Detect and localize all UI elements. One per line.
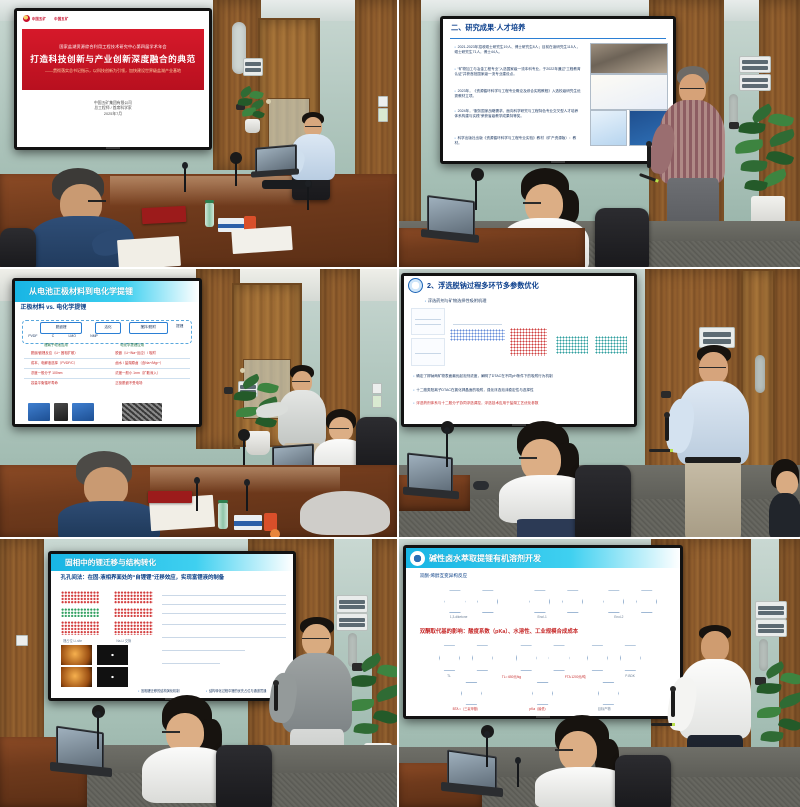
figure-surfactant-layer bbox=[510, 328, 547, 356]
slide-flotation-optimization: 2、浮选脱钠过程多环节多参数优化 浮选药剂与矿物选择性吸附机理 bbox=[404, 276, 634, 424]
slide-eyebrow: 国家盐湖资源综合利用工程技术研究中心第四届学术年会 bbox=[59, 44, 166, 50]
photo-panel-3[interactable]: 从电池正极材料到电化学提锂 正极材料 vs. 电化学提锂 脱嵌锂 活化 搅拌/脱… bbox=[0, 269, 399, 539]
slide-header: 二、研究成果·人才培养 bbox=[443, 19, 673, 37]
battery-cell-image bbox=[72, 403, 94, 422]
bullet-item: 确定了钾钠两矿物表面最优起泡剂浓度，阐明了DTAC在不同pH条件下的吸附行为机制 bbox=[413, 374, 625, 379]
tem-image-1 bbox=[61, 645, 92, 665]
office-chair[interactable] bbox=[615, 755, 671, 807]
head bbox=[776, 471, 798, 495]
wall-mounted-display-4[interactable]: 2、浮选脱钠过程多环节多参数优化 浮选药剂与矿物选择性吸附机理 bbox=[401, 273, 637, 427]
laser-pointer[interactable] bbox=[651, 723, 673, 726]
wall-control-panel[interactable] bbox=[739, 56, 771, 73]
gooseneck-microphone-2[interactable] bbox=[517, 761, 519, 787]
wall-outlet[interactable] bbox=[378, 96, 388, 107]
thumbnail-textbook-blue bbox=[590, 110, 627, 146]
slide-title: 碱性卤水萃取提锂有机溶剂开发 bbox=[429, 553, 541, 564]
glasses bbox=[329, 428, 349, 431]
office-chair[interactable] bbox=[595, 208, 649, 267]
cost-label: P-BDK bbox=[625, 674, 635, 678]
cell-left: 浓度一般分子 100nm bbox=[31, 370, 63, 375]
gooseneck-microphone[interactable] bbox=[184, 166, 186, 192]
cell-right: 正极脱嵌不受电场 bbox=[115, 380, 142, 385]
conference-room-scene-3: 从电池正极材料到电化学提锂 正极材料 vs. 电化学提锂 脱嵌锂 活化 搅拌/脱… bbox=[0, 269, 397, 537]
institution-seal-icon bbox=[408, 278, 423, 293]
conference-room-scene-6: 碱性卤水萃取提锂有机溶剂开发 双酮-烯醇互变异构反应 1,3-diketone … bbox=[399, 539, 800, 807]
conference-room-scene-4: 2、浮选脱钠过程多环节多参数优化 浮选药剂与矿物选择性吸附机理 bbox=[399, 269, 800, 537]
bullet-item: “矿物加工与冶金工程专业”入选国家级一流本科专业，于2022年通过“工程教育认证… bbox=[455, 67, 582, 77]
structure-label: Enol-1 bbox=[538, 615, 547, 619]
slide-header: 从电池正极材料到电化学提锂 bbox=[15, 281, 199, 302]
slide-header: 2、浮选脱钠过程多环节多参数优化 bbox=[404, 276, 634, 295]
slide-research-outcomes: 二、研究成果·人才培养 2021-2023年招收硕士研究生19人、博士研究生8人… bbox=[443, 19, 673, 161]
lattice-diagram-1 bbox=[61, 591, 100, 604]
logo-minmetals-2: 中国五矿 bbox=[54, 16, 68, 21]
process-flow-box: 脱嵌锂 活化 搅拌/脱附 提锂 PVDF C LMO NMP bbox=[22, 320, 191, 345]
glasses bbox=[162, 731, 180, 735]
computer-mouse[interactable] bbox=[473, 481, 489, 490]
logo-text: 中国五矿 bbox=[32, 16, 46, 21]
lattice-label: 锂占位 Li-site bbox=[63, 638, 82, 643]
torso bbox=[769, 493, 800, 537]
wall-control-panel-2[interactable] bbox=[739, 74, 771, 91]
bullet-item: 2024年，“服务国家战略需求、面向科学研究与工程特色专业交叉型人才培养体系构建… bbox=[455, 109, 582, 119]
glasses bbox=[680, 88, 704, 91]
column-header-left: 锂离子电池应用 bbox=[44, 342, 68, 347]
slide-main-title: 打造科技创新与产业创新深度融合的典范 bbox=[30, 53, 196, 65]
chair-foreground[interactable] bbox=[0, 228, 36, 267]
person-attendee-right-edge bbox=[769, 459, 800, 537]
slide-title: 2、浮选脱钠过程多环节多参数优化 bbox=[427, 281, 539, 291]
lattice-diagram-2 bbox=[61, 608, 100, 617]
documents-foreground[interactable] bbox=[117, 236, 181, 267]
display-screen: 从电池正极材料到电化学提锂 正极材料 vs. 电化学提锂 脱嵌锂 活化 搅拌/脱… bbox=[15, 281, 199, 424]
wall-control-panel[interactable] bbox=[243, 58, 263, 76]
lattice-diagram-4 bbox=[114, 591, 153, 604]
slide-footer: 中国五矿集团有限公司 总工程师 / 首席科学家 2025年7月 bbox=[17, 101, 209, 117]
cell-left: 容量平衡循环寿命 bbox=[31, 380, 58, 385]
wall-mounted-display-1[interactable]: 中国五矿 中国五矿 国家盐湖资源综合利用工程技术研究中心第四届学术年会 打造科技… bbox=[14, 8, 212, 150]
battery-cell-image bbox=[28, 403, 50, 422]
photo-panel-6[interactable]: 碱性卤水萃取提锂有机溶剂开发 双酮-烯醇互变异构反应 1,3-diketone … bbox=[399, 539, 800, 807]
slide-red-banner: 国家盐湖资源综合利用工程技术研究中心第四届学术年会 打造科技创新与产业创新深度融… bbox=[22, 29, 204, 90]
torso bbox=[58, 501, 160, 537]
bottom-label: BTA ≈（三氟甲基） bbox=[453, 706, 481, 711]
comparison-table: 锂离子电池应用 电化学提锂应用 脱嵌/嵌锂反应（Li⁺ 固相扩散） 脱嵌（Li⁺… bbox=[24, 347, 190, 396]
slide-logos: 中国五矿 中国五矿 bbox=[23, 15, 69, 22]
footer-note: 固相锂迁移的结构演化机制 bbox=[138, 689, 201, 694]
slide-title: 固相中的锂迁移与结构转化 bbox=[65, 557, 156, 568]
glasses bbox=[305, 126, 321, 129]
panel-row bbox=[245, 68, 260, 72]
table-row: 成本、电解液选择（PVDF/C） 卤水 / 盐湖原卤（含Na⁺/Mg²⁺） bbox=[24, 359, 190, 369]
slide-battery-lithium: 从电池正极材料到电化学提锂 正极材料 vs. 电化学提锂 脱嵌锂 活化 搅拌/脱… bbox=[15, 281, 199, 424]
slide-body: 锂占位 Li-site Na-Li 交换 bbox=[51, 589, 293, 698]
bullet-item: 2023年，《资源循环科学与工程专业概论及综合实践教程》入选校级研究生优秀教材立… bbox=[455, 89, 582, 99]
cell-right: 浓度一般小 1nm（扩散深入） bbox=[115, 370, 160, 375]
panel-row bbox=[245, 62, 260, 66]
red-folder[interactable] bbox=[148, 491, 192, 503]
cell-left: 脱嵌/嵌锂反应（Li⁺ 固相扩散） bbox=[31, 350, 78, 355]
water-bottle[interactable] bbox=[205, 203, 214, 227]
cost-label: TL≈ 650元/kg bbox=[502, 674, 521, 679]
wall-mounted-display-6[interactable]: 碱性卤水萃取提锂有机溶剂开发 双酮-烯醇互变异构反应 1,3-diketone … bbox=[403, 545, 683, 719]
bullet-item-highlight: 浮选药剂体系与十二胺分子协同浮选调控，浮选技术应用于盐湖工艺优化参数 bbox=[413, 401, 625, 406]
water-bottle[interactable] bbox=[218, 503, 228, 529]
table-row: 容量平衡循环寿命 正极脱嵌不受电场 bbox=[24, 379, 190, 388]
lattice-label: Na-Li 交换 bbox=[116, 638, 131, 643]
cell-right: 脱嵌（Li⁺/Na⁺反应）/ 吸附 bbox=[115, 350, 156, 355]
column-header-right: 电化学提锂应用 bbox=[120, 342, 144, 347]
slide-lithium-migration: 固相中的锂迁移与结构转化 孔孔间法：在固-液相界面处的“自锂锂”迁移效应，实现富… bbox=[51, 554, 293, 698]
wall-control-panel[interactable] bbox=[755, 601, 787, 619]
person-attendee-right-edge bbox=[300, 491, 397, 537]
wall-mounted-display-5[interactable]: 固相中的锂迁移与结构转化 孔孔间法：在固-液相界面处的“自锂锂”迁移效应，实现富… bbox=[48, 551, 296, 701]
figure-molecular-dynamics bbox=[450, 311, 505, 356]
slide-title: 二、研究成果·人才培养 bbox=[451, 23, 525, 33]
glasses bbox=[523, 202, 541, 206]
handheld-microphone[interactable] bbox=[647, 144, 651, 168]
slide-title: 从电池正极材料到电化学提锂 bbox=[29, 286, 133, 297]
cell-right: 卤水 / 盐湖原卤（含Na⁺/Mg²⁺） bbox=[115, 360, 163, 365]
wall-control-panel[interactable] bbox=[336, 595, 368, 613]
wood-wall-panel-right bbox=[355, 0, 397, 200]
photo-panel-4[interactable]: 2、浮选脱钠过程多环节多参数优化 浮选药剂与矿物选择性吸附机理 bbox=[399, 269, 800, 539]
slide-body: 确定了钾钠两矿物表面最优起泡剂浓度，阐明了DTAC在不同pH条件下的吸附行为机制… bbox=[404, 298, 634, 424]
formula-label: LMO bbox=[69, 334, 76, 338]
sem-micrograph bbox=[122, 403, 162, 422]
glasses bbox=[88, 200, 106, 204]
glasses bbox=[699, 367, 726, 370]
wall-sensor bbox=[661, 391, 671, 398]
saed-pattern-1 bbox=[97, 645, 128, 665]
wall-control-panel-2[interactable] bbox=[755, 619, 787, 637]
conference-room-scene-1: 中国五矿 中国五矿 国家盐湖资源综合利用工程技术研究中心第四届学术年会 打造科技… bbox=[0, 0, 397, 267]
photo-panel-2[interactable]: 二、研究成果·人才培养 2021-2023年招收硕士研究生19人、博士研究生8人… bbox=[399, 0, 800, 269]
glasses bbox=[555, 749, 573, 753]
wall-mounted-display-2[interactable]: 二、研究成果·人才培养 2021-2023年招收硕士研究生19人、博士研究生8人… bbox=[440, 16, 676, 164]
slide-subtitle: 孔孔间法：在固-液相界面处的“自锂锂”迁移效应，实现富锂液的制备 bbox=[61, 573, 225, 581]
slide-header: 碱性卤水萃取提锂有机溶剂开发 bbox=[406, 548, 680, 568]
gooseneck-microphone[interactable] bbox=[246, 483, 248, 511]
table-row: 浓度一般分子 100nm 浓度一般小 1nm（扩散深入） bbox=[24, 369, 190, 379]
person-speaker-standing bbox=[671, 345, 761, 537]
slide-subtitle: ——贯彻落实总书记指示，以科技创新为引领，加快建设世界级盐湖产业基地 bbox=[45, 68, 181, 74]
figure-crystal-surface-2 bbox=[595, 303, 627, 353]
cost-label: FTA 1200元/吨 bbox=[565, 674, 586, 679]
gooseneck-microphone[interactable] bbox=[97, 715, 99, 749]
slide-body: 2021-2023年招收硕士研究生19人、博士研究生8人；目前在读研究生115人… bbox=[443, 40, 673, 161]
bottom-label: pKa（最低） bbox=[529, 706, 547, 711]
tem-image-2 bbox=[61, 667, 92, 687]
lattice-diagram-5 bbox=[114, 608, 153, 617]
conference-room-scene-2: 二、研究成果·人才培养 2021-2023年招收硕士研究生19人、博士研究生8人… bbox=[399, 0, 800, 267]
glasses bbox=[292, 381, 310, 384]
slide-subtitle: 正极材料 vs. 电化学提锂 bbox=[21, 302, 87, 311]
battery-cell-image bbox=[54, 403, 69, 422]
handheld-microphone[interactable] bbox=[671, 689, 675, 717]
formula-label: PVDF bbox=[28, 334, 37, 338]
tissue-box[interactable] bbox=[234, 515, 262, 530]
conference-camera bbox=[471, 168, 484, 181]
emergency-sign bbox=[372, 395, 382, 408]
formula-label: C bbox=[52, 334, 54, 338]
figure-crystal-surface-1 bbox=[556, 303, 588, 353]
display-screen: 中国五矿 中国五矿 国家盐湖资源综合利用工程技术研究中心第四届学术年会 打造科技… bbox=[17, 11, 209, 147]
display-screen: 固相中的锂迁移与结构转化 孔孔间法：在固-液相界面处的“自锂锂”迁移效应，实现富… bbox=[51, 554, 293, 698]
photo-panel-1[interactable]: 中国五矿 中国五矿 国家盐湖资源综合利用工程技术研究中心第四届学术年会 打造科技… bbox=[0, 0, 399, 269]
flow-node: 搅拌/脱附 bbox=[129, 322, 168, 334]
flow-node: 脱嵌锂 bbox=[40, 322, 82, 334]
institution-seal-icon bbox=[410, 551, 425, 566]
slide-body: 1,3-diketone Enol-1 Enol-2 双酮取代基的影响：酸度系数… bbox=[406, 585, 680, 716]
flow-node: 提锂 bbox=[171, 322, 189, 332]
logo-minmetals-1: 中国五矿 bbox=[23, 15, 46, 22]
flow-node: 活化 bbox=[95, 322, 120, 334]
title-underline bbox=[450, 38, 666, 39]
key-message: 双酮取代基的影响：酸度系数（pKa）、水溶性、工业规模合成成本 bbox=[420, 627, 578, 635]
emergency-sign bbox=[378, 108, 388, 122]
lattice-diagram-6 bbox=[114, 621, 153, 634]
camera-stand bbox=[235, 162, 237, 186]
display-screen: 2、浮选脱钠过程多环节多参数优化 浮选药剂与矿物选择性吸附机理 bbox=[404, 276, 634, 424]
cost-label: TL bbox=[447, 674, 451, 678]
photo-panel-5[interactable]: 固相中的锂迁移与结构转化 孔孔间法：在固-液相界面处的“自锂锂”迁移效应，实现富… bbox=[0, 539, 399, 807]
bullet-item: 十二胺类阳离子DTAC在氯化钾晶面的吸附，强化浮选泡沫稳定性与选择性 bbox=[413, 388, 625, 393]
display-logo bbox=[106, 147, 120, 149]
figure-adsorption-plot-a bbox=[411, 308, 445, 335]
gooseneck-microphone[interactable] bbox=[196, 481, 198, 511]
formula-label: NMP bbox=[90, 334, 98, 338]
bullet-item: 2021-2023年招收硕士研究生19人、博士研究生8人；目前在读研究生115人… bbox=[455, 45, 582, 55]
display-screen: 二、研究成果·人才培养 2021-2023年招收硕士研究生19人、博士研究生8人… bbox=[443, 19, 673, 161]
wood-wall-panel-left bbox=[399, 0, 421, 230]
slide-header: 固相中的锂迁移与结构转化 bbox=[51, 554, 293, 571]
belt bbox=[685, 457, 741, 463]
head bbox=[701, 631, 729, 662]
figure-caption bbox=[413, 364, 414, 368]
papers[interactable] bbox=[231, 226, 293, 254]
lattice-diagram-3 bbox=[61, 621, 100, 634]
gooseneck-microphone[interactable] bbox=[446, 431, 448, 467]
photo-collage-grid: 中国五矿 中国五矿 国家盐湖资源综合利用工程技术研究中心第四届学术年会 打造科技… bbox=[0, 0, 800, 807]
laser-pointer[interactable] bbox=[649, 449, 671, 452]
office-chair[interactable] bbox=[216, 745, 272, 807]
handheld-microphone[interactable] bbox=[665, 415, 669, 441]
potted-plant bbox=[236, 88, 270, 134]
slide-title-red: 中国五矿 中国五矿 国家盐湖资源综合利用工程技术研究中心第四届学术年会 打造科技… bbox=[17, 11, 209, 147]
saed-pattern-2 bbox=[97, 667, 128, 687]
glasses bbox=[302, 638, 329, 641]
footer-line: 2025年7月 bbox=[17, 112, 209, 117]
table-row: 脱嵌/嵌锂反应（Li⁺ 固相扩散） 脱嵌（Li⁺/Na⁺反应）/ 吸附 bbox=[24, 350, 190, 360]
wall-outlet[interactable] bbox=[16, 635, 28, 646]
bottom-label: 目标产物 bbox=[598, 706, 611, 711]
display-screen: 碱性卤水萃取提锂有机溶剂开发 双酮-烯醇互变异构反应 1,3-diketone … bbox=[406, 548, 680, 716]
legs-khaki bbox=[685, 459, 741, 537]
office-chair[interactable] bbox=[575, 465, 631, 537]
hair-gray bbox=[300, 491, 390, 535]
handheld-microphone[interactable] bbox=[274, 683, 278, 711]
glasses bbox=[519, 457, 537, 461]
bullet-item: 科学出版社出版《资源循环科学与工程专业实验》教材（矿产资源版）：教材。 bbox=[455, 136, 582, 146]
slide-solvent-development: 碱性卤水萃取提锂有机溶剂开发 双酮-烯醇互变异构反应 1,3-diketone … bbox=[406, 548, 680, 716]
cell-left: 成本、电解液选择（PVDF/C） bbox=[31, 360, 77, 365]
conference-room-scene-5: 固相中的锂迁移与结构转化 孔孔间法：在固-液相界面处的“自锂锂”迁移效应，实现富… bbox=[0, 539, 397, 807]
figure-adsorption-plot-b bbox=[411, 338, 445, 365]
gooseneck-microphone[interactable] bbox=[307, 184, 309, 210]
camera-stand bbox=[243, 439, 245, 465]
structure-label: 1,3-diketone bbox=[450, 615, 468, 619]
gooseneck-microphone[interactable] bbox=[486, 735, 488, 767]
slide-subtitle: 双酮-烯醇互变异构反应 bbox=[420, 573, 467, 579]
display-logo bbox=[551, 161, 565, 163]
logo-text: 中国五矿 bbox=[54, 16, 68, 21]
logo-mark-icon bbox=[23, 15, 30, 22]
structure-label: Enol-2 bbox=[614, 615, 623, 619]
projection-screen-3[interactable]: 从电池正极材料到电化学提锂 正极材料 vs. 电化学提锂 脱嵌锂 活化 搅拌/脱… bbox=[12, 278, 202, 427]
potted-plant bbox=[729, 108, 800, 236]
wall-outlet[interactable] bbox=[372, 383, 382, 394]
fruit bbox=[270, 529, 280, 537]
